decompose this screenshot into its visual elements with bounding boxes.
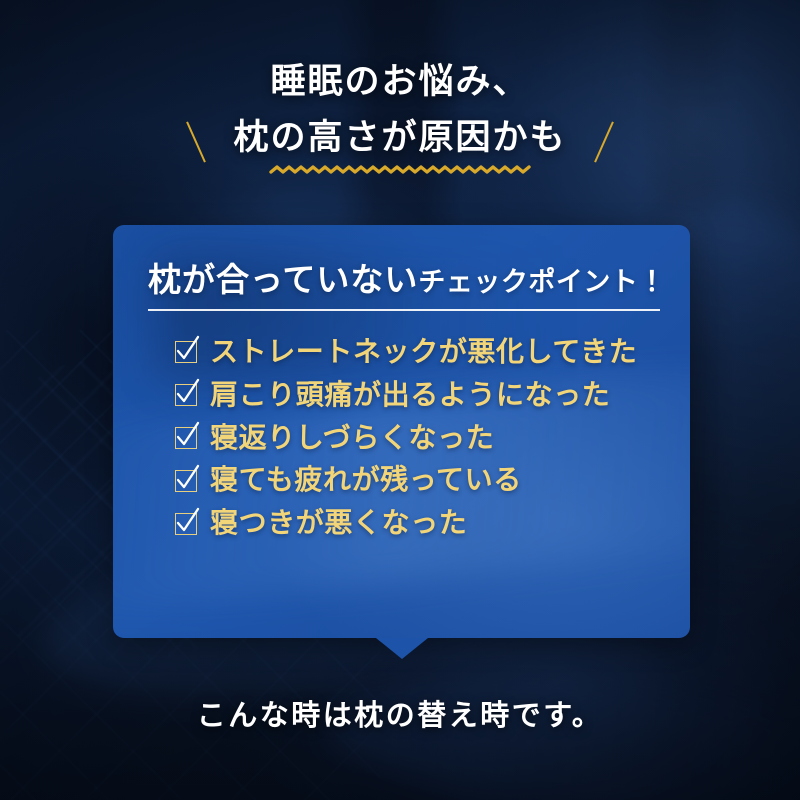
promo-banner: 睡眠のお悩み、 枕の高さが原因かも 枕が合っていないチェックポイント！ [0,0,800,800]
list-item: 寝返りしづらくなった [175,423,656,454]
speech-bubble-tail-icon [376,638,428,659]
list-item: 寝ても疲れが残っている [175,465,656,496]
list-item-label: 寝返りしづらくなった [210,423,494,454]
checklist-card: 枕が合っていないチェックポイント！ ストレートネックが悪化してきた [113,225,690,638]
headline-line-2: 枕の高さが原因かも [189,118,610,157]
card-title: 枕が合っていないチェックポイント！ [148,253,656,301]
card-title-underline [148,309,660,311]
list-item: 肩こり頭痛が出るようになった [175,380,656,411]
list-item-label: 寝ても疲れが残っている [210,465,522,496]
list-item: ストレートネックが悪化してきた [175,337,656,368]
checklist: ストレートネックが悪化してきた 肩こり頭痛が出るようになった [148,337,656,539]
header-block: 睡眠のお悩み、 枕の高さが原因かも [0,60,800,178]
list-item-label: ストレートネックが悪化してきた [210,337,637,368]
checkbox-checked-icon [175,427,197,449]
checkbox-checked-icon [175,513,197,535]
list-item: 寝つきが悪くなった [175,508,656,539]
card-title-main: 枕が合っていない [148,263,418,299]
headline-line-1: 睡眠のお悩み、 [0,60,800,104]
footer-caption: こんな時は枕の替え時です。 [0,692,800,734]
checkmark-icon [174,464,201,492]
checkbox-checked-icon [175,470,197,492]
list-item-label: 肩こり頭痛が出るようになった [210,380,610,411]
checkbox-checked-icon [175,384,197,406]
card-title-sub: チェックポイント！ [418,267,666,297]
headline-line-2-wrap: 枕の高さが原因かも [189,116,610,160]
checkmark-icon [174,507,201,535]
checkmark-icon [174,378,201,406]
checkbox-checked-icon [175,341,197,363]
list-item-label: 寝つきが悪くなった [210,508,467,539]
checkmark-icon [174,335,201,363]
card-content: 枕が合っていないチェックポイント！ ストレートネックが悪化してきた [113,225,690,539]
checkmark-icon [174,421,201,449]
gold-wavy-underline-icon [269,164,531,178]
